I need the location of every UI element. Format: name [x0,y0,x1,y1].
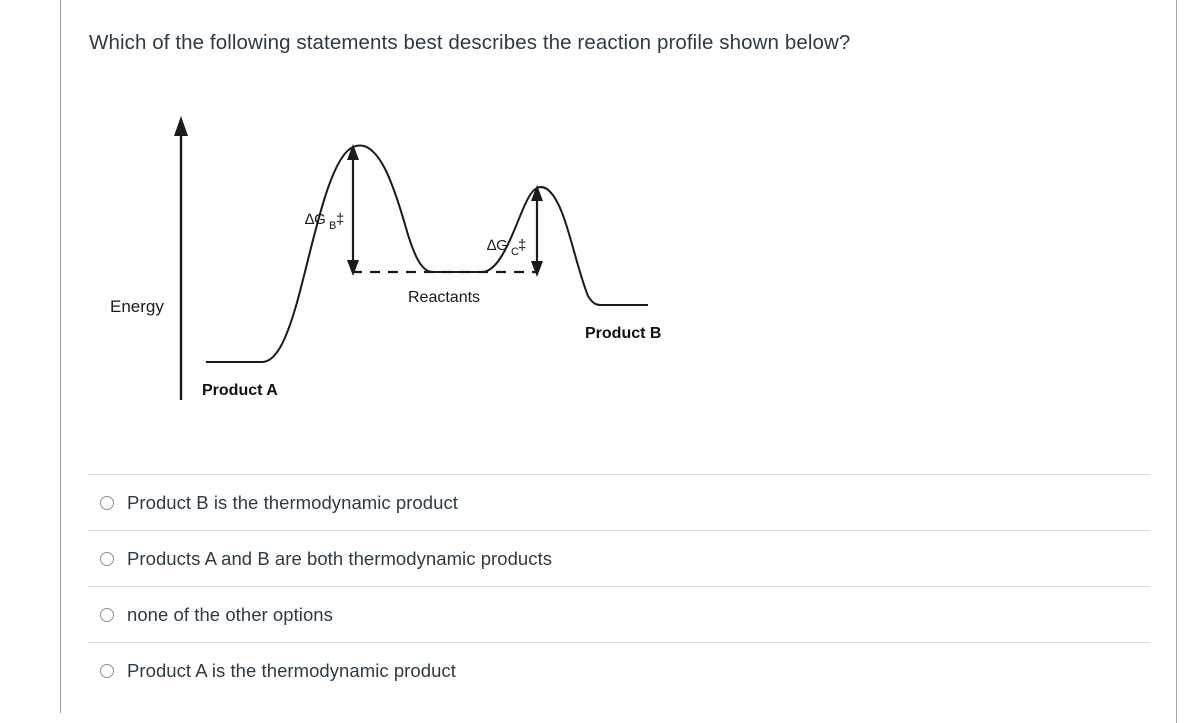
option-row-1[interactable]: Product B is the thermodynamic product [88,475,1150,530]
barrier-c-arrow [531,185,543,277]
energy-axis [174,116,188,400]
energy-profile-curve [206,145,648,362]
option-label-3: none of the other options [127,603,333,627]
option-row-3[interactable]: none of the other options [88,587,1150,642]
barrier-c-arrowhead-down-icon [531,261,543,277]
barrier-c-label: ∆G C ‡ [487,237,526,258]
radio-button-option-3[interactable] [100,608,114,622]
energy-axis-label: Energy [110,297,164,316]
question-page: Which of the following statements best d… [0,0,1190,723]
barrier-b-delta-g: ∆G [305,211,326,228]
barrier-b-label: ∆G B ‡ [305,211,344,232]
barrier-b-curve [262,145,433,362]
reaction-profile-diagram: Energy [90,100,790,430]
reaction-profile-svg: Energy [90,100,790,430]
radio-button-option-4[interactable] [100,664,114,678]
barrier-c-dagger-icon: ‡ [518,237,526,254]
product-a-label: Product A [202,382,278,399]
product-b-label: Product B [585,325,661,342]
radio-button-option-2[interactable] [100,552,114,566]
answer-options-list: Product B is the thermodynamic product P… [88,474,1150,698]
reactants-label: Reactants [408,289,480,306]
radio-button-option-1[interactable] [100,496,114,510]
barrier-b-arrow [347,144,359,276]
option-row-2[interactable]: Products A and B are both thermodynamic … [88,531,1150,586]
barrier-b-dagger-icon: ‡ [336,211,344,228]
option-label-2: Products A and B are both thermodynamic … [127,547,552,571]
option-label-4: Product A is the thermodynamic product [127,659,456,683]
barrier-c-delta-g: ∆G [487,237,508,254]
question-prompt: Which of the following statements best d… [89,29,1109,57]
option-row-4[interactable]: Product A is the thermodynamic product [88,643,1150,698]
option-label-1: Product B is the thermodynamic product [127,491,458,515]
barrier-b-arrowhead-down-icon [347,260,359,276]
page-right-border [1176,0,1177,723]
energy-axis-arrowhead-icon [174,116,188,136]
page-left-border [60,0,61,713]
